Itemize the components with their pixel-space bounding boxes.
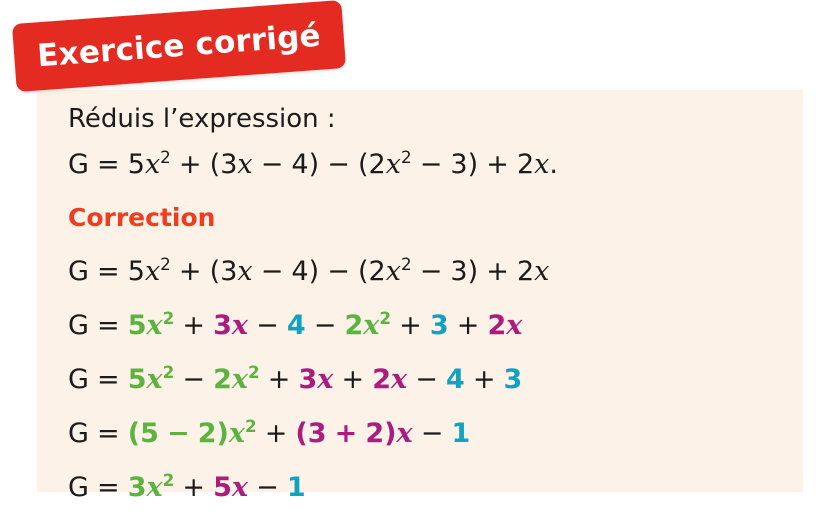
line3-term-2x2: 2x2 — [213, 364, 260, 395]
line4-op2: − — [421, 418, 444, 449]
line2-op4: + — [399, 310, 422, 341]
line4-equals: = — [97, 418, 120, 449]
line5-lhs: G — [68, 472, 89, 503]
line3-op3: + — [342, 364, 365, 395]
line3-op4: − — [415, 364, 438, 395]
line4-factor-open-magenta: (3 — [295, 418, 326, 449]
line2-op3: − — [314, 310, 337, 341]
line3-lhs: G — [68, 364, 89, 395]
line2-equals: = — [97, 310, 120, 341]
line3-op2: + — [268, 364, 291, 395]
line4-factor-open-green: (5 — [128, 418, 159, 449]
exercise-prompt: Réduis l’expression : — [68, 101, 788, 137]
line3-term-4: 4 — [446, 364, 465, 395]
statement-term-5x2: 5x2 — [128, 149, 171, 180]
statement-group-1-open: (3x — [210, 149, 253, 180]
line1-op5: + — [486, 256, 509, 287]
line5-equals: = — [97, 472, 120, 503]
line1-group1-open: (3x — [210, 256, 253, 287]
line4-lhs: G — [68, 418, 89, 449]
line2-term-2x: 2x — [487, 310, 522, 341]
line3-op1: − — [182, 364, 205, 395]
line2-op5: + — [457, 310, 480, 341]
line1-term-5x2: 5x2 — [128, 256, 171, 287]
line1-term-2x: 2x — [517, 256, 549, 287]
exercise-corrige-badge: Exercice corrigé — [12, 0, 346, 92]
exercise-statement: G=5x2+(3x−4)−(2x2−3)+2x. — [68, 137, 788, 185]
statement-op-minus-1: − — [261, 149, 284, 180]
line2-term-3x: 3x — [213, 310, 248, 341]
line3-term-3x: 3x — [299, 364, 334, 395]
statement-op-minus-2: − — [327, 149, 350, 180]
correction-heading: Correction — [68, 195, 788, 241]
line2-term-3: 3 — [430, 310, 449, 341]
line3-op5: + — [473, 364, 496, 395]
line4-op-inner-1: − — [167, 418, 190, 449]
line2-lhs: G — [68, 310, 89, 341]
correction-line-4: G=(5−2)x2+(3+2)x−1 — [68, 403, 788, 457]
line4-term-1: 1 — [451, 418, 470, 449]
statement-op-minus-3: − — [420, 149, 443, 180]
statement-op-plus-1: + — [179, 149, 202, 180]
statement-term-2x: 2x. — [517, 149, 558, 180]
line4-op-inner-2: + — [335, 418, 358, 449]
line1-op2: − — [261, 256, 284, 287]
statement-equals: = — [97, 149, 120, 180]
line4-factor-close-magenta: 2)x — [365, 418, 412, 449]
line3-term-3: 3 — [504, 364, 523, 395]
correction-line-1: G=5x2+(3x−4)−(2x2−3)+2x — [68, 241, 788, 295]
line1-group1-close: 4) — [291, 256, 319, 287]
line1-group2-open: (2x2 — [358, 256, 412, 287]
exercise-content: Réduis l’expression : G=5x2+(3x−4)−(2x2−… — [68, 101, 788, 511]
statement-group-2-close: 3) — [450, 149, 478, 180]
line5-op2: − — [256, 472, 279, 503]
line2-term-4: 4 — [287, 310, 306, 341]
line5-term-5x: 5x — [213, 472, 248, 503]
line3-equals: = — [97, 364, 120, 395]
correction-line-3: G=5x2−2x2+3x+2x−4+3 — [68, 349, 788, 403]
line2-op2: − — [256, 310, 279, 341]
line3-term-5x2: 5x2 — [128, 364, 175, 395]
line1-group2-close: 3) — [450, 256, 478, 287]
line1-op4: − — [420, 256, 443, 287]
line2-term-2x2: 2x2 — [344, 310, 391, 341]
statement-op-plus-2: + — [486, 149, 509, 180]
line2-term-5x2: 5x2 — [128, 310, 175, 341]
line4-op1: + — [265, 418, 288, 449]
line4-factor-close-green: 2)x2 — [198, 418, 257, 449]
statement-group-2-open: (2x2 — [358, 149, 412, 180]
statement-group-1-close: 4) — [291, 149, 319, 180]
line1-lhs: G — [68, 256, 89, 287]
line5-term-3x2: 3x2 — [128, 472, 175, 503]
line1-op3: − — [327, 256, 350, 287]
line1-op1: + — [179, 256, 202, 287]
badge-label: Exercice corrigé — [12, 0, 346, 92]
line5-op1: + — [182, 472, 205, 503]
line3-term-2x: 2x — [372, 364, 407, 395]
line2-op1: + — [182, 310, 205, 341]
statement-lhs: G — [68, 149, 89, 180]
line1-equals: = — [97, 256, 120, 287]
correction-line-2: G=5x2+3x−4−2x2+3+2x — [68, 295, 788, 349]
correction-line-5: G=3x2+5x−1 — [68, 457, 788, 511]
line5-term-1: 1 — [287, 472, 306, 503]
